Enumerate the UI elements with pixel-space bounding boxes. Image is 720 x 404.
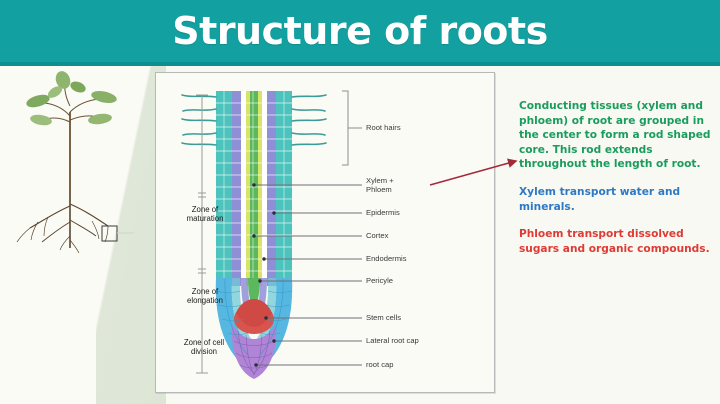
zone-label-elongation: Zone of elongation [174,287,236,306]
structure-label-pericyle: Pericyle [366,277,393,286]
structure-label-stem-cells: Stem cells [366,314,401,323]
root-diagram-panel: Zone of maturation Zone of elongation Zo… [155,72,495,393]
structure-label-root-hairs: Root hairs [366,124,401,133]
note-xylem: Xylem transport water and minerals. [519,185,717,214]
slide-canvas: Structure of roots [0,0,720,404]
zone-label-maturation: Zone of maturation [174,205,236,224]
structure-label-endodermis: Endodermis [366,255,407,264]
zone-axis [196,95,208,373]
root-cylinder [216,91,292,286]
page-title: Structure of roots [0,2,720,60]
structure-label-root-cap: root cap [366,361,393,370]
root-hairs-bracket [342,91,362,165]
structure-label-xylem-phloem: Xylem + Phloem [366,177,394,194]
xylem-phloem-arrow [420,150,530,200]
structure-label-cortex: Cortex [366,232,388,241]
structure-label-lateral-root-cap: Lateral root cap [366,337,419,346]
note-conducting-tissues: Conducting tissues (xylem and phloem) of… [519,99,717,172]
note-phloem: Phloem transport dissolved sugars and or… [519,227,717,256]
structure-label-epidermis: Epidermis [366,209,400,218]
zone-label-cell-division: Zone of cell division [170,338,238,357]
seedling-illustration [8,70,158,270]
notes-column: Conducting tissues (xylem and phloem) of… [519,99,717,256]
